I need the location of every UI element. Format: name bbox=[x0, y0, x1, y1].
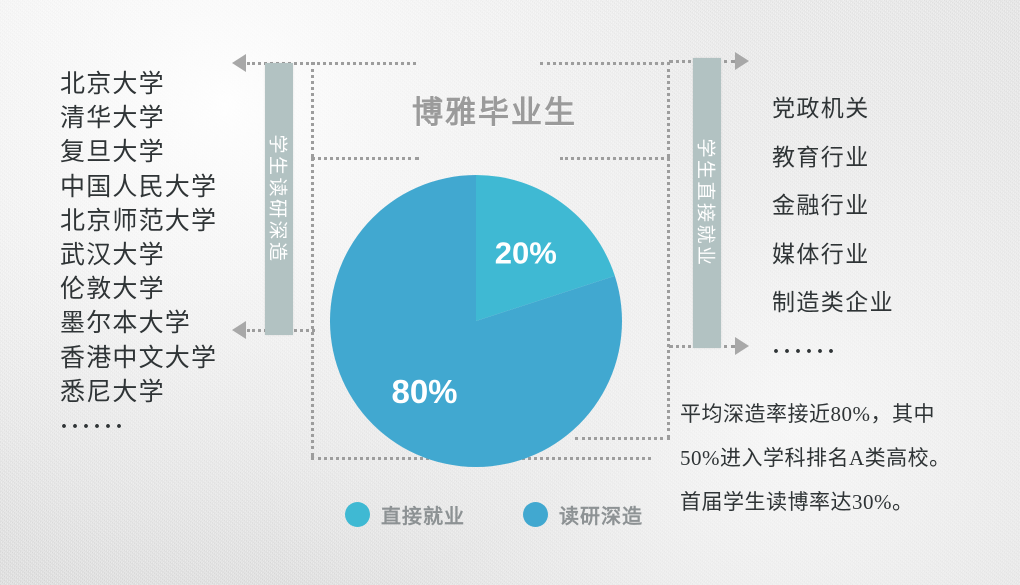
left-list-more: ······ bbox=[60, 410, 217, 444]
summary-line: 50%进入学科排名A类高校。 bbox=[680, 436, 990, 480]
left-frame-mid-line bbox=[311, 157, 419, 160]
page-title: 博雅毕业生 bbox=[412, 87, 577, 132]
right-frame-right-vertical bbox=[667, 62, 670, 157]
legend-color-swatch-icon bbox=[523, 502, 548, 527]
list-item: 北京大学 bbox=[60, 68, 217, 102]
list-item: 墨尔本大学 bbox=[60, 307, 217, 341]
left-branch-bar-label: 学生读研深造 bbox=[266, 134, 293, 263]
list-item: 金融行业 bbox=[772, 182, 894, 231]
right-branch-bar-label: 学生直接就业 bbox=[694, 138, 721, 267]
right-branch-list: 党政机关 教育行业 金融行业 媒体行业 制造类企业 ······ bbox=[772, 85, 894, 376]
list-item: 北京师范大学 bbox=[60, 205, 217, 239]
summary-note: 平均深造率接近80%，其中 50%进入学科排名A类高校。 首届学生读博率达30%… bbox=[680, 392, 990, 524]
left-lower-arrow-icon bbox=[232, 321, 246, 339]
list-item: 中国人民大学 bbox=[60, 171, 217, 205]
right-upper-arrow-icon bbox=[735, 52, 749, 70]
summary-line: 首届学生读博率达30%。 bbox=[680, 480, 990, 524]
list-item: 党政机关 bbox=[772, 85, 894, 134]
right-frame-mid-line bbox=[560, 157, 670, 160]
list-item: 伦敦大学 bbox=[60, 273, 217, 307]
right-lower-arrow-icon bbox=[735, 337, 749, 355]
list-item: 教育行业 bbox=[772, 134, 894, 183]
right-frame-top-line bbox=[540, 62, 670, 65]
pie-frame-left-vertical bbox=[311, 157, 314, 457]
legend-item-direct-employment[interactable]: 直接就业 bbox=[345, 500, 465, 529]
legend-label: 读研深造 bbox=[559, 500, 643, 529]
list-item: 武汉大学 bbox=[60, 239, 217, 273]
list-item: 媒体行业 bbox=[772, 231, 894, 280]
left-frame-left-vertical bbox=[311, 62, 314, 157]
legend-label: 直接就业 bbox=[381, 500, 465, 529]
pie-label-20: 20% bbox=[495, 236, 557, 271]
pie-chart: 20% 80% bbox=[330, 175, 622, 467]
pie-frame-right-vertical bbox=[667, 157, 670, 439]
list-item: 清华大学 bbox=[60, 102, 217, 136]
right-list-more: ······ bbox=[772, 328, 894, 377]
pie-label-80: 80% bbox=[391, 373, 457, 410]
list-item: 悉尼大学 bbox=[60, 376, 217, 410]
right-branch-bar: 学生直接就业 bbox=[693, 58, 721, 348]
left-branch-bar: 学生读研深造 bbox=[265, 63, 293, 335]
chart-legend: 直接就业 读研深造 bbox=[345, 500, 643, 529]
list-item: 复旦大学 bbox=[60, 136, 217, 170]
list-item: 香港中文大学 bbox=[60, 342, 217, 376]
list-item: 制造类企业 bbox=[772, 279, 894, 328]
legend-item-graduate-study[interactable]: 读研深造 bbox=[523, 500, 643, 529]
pie-chart-svg: 20% 80% bbox=[330, 175, 622, 467]
left-upper-arrow-icon bbox=[232, 54, 246, 72]
left-branch-list: 北京大学 清华大学 复旦大学 中国人民大学 北京师范大学 武汉大学 伦敦大学 墨… bbox=[60, 68, 217, 444]
summary-line: 平均深造率接近80%，其中 bbox=[680, 392, 990, 436]
left-frame-top-line bbox=[311, 62, 416, 65]
legend-color-swatch-icon bbox=[345, 502, 370, 527]
